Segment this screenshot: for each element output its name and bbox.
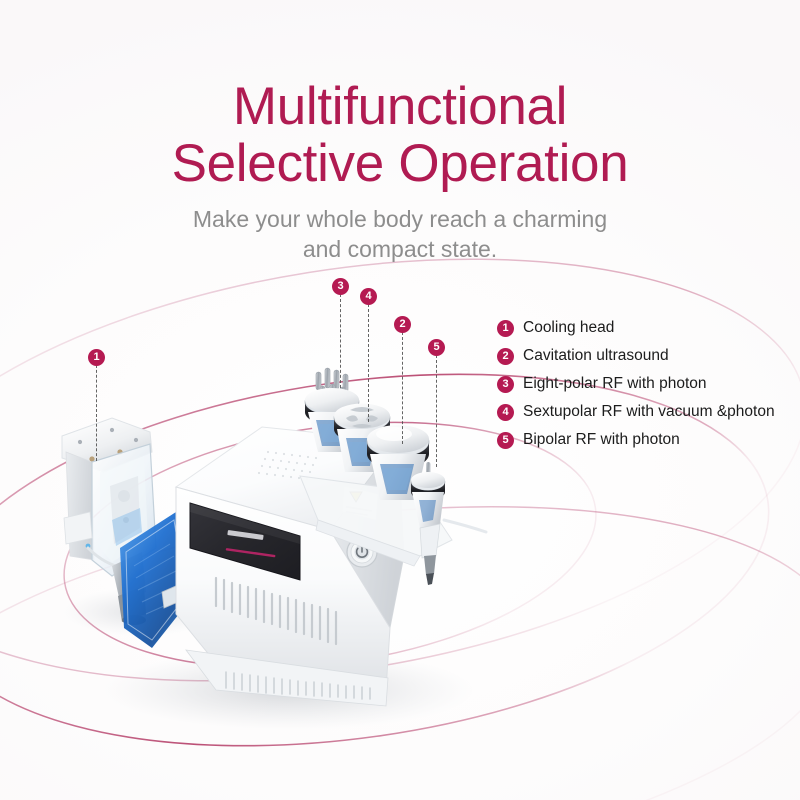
top-vent-grid <box>258 451 317 480</box>
page-title-line-2: Selective Operation <box>0 135 800 192</box>
callout-marker-1: 1 <box>88 349 105 366</box>
legend-row: 4Sextupolar RF with vacuum &photon <box>497 398 797 426</box>
legend-row: 5Bipolar RF with photon <box>497 426 797 454</box>
handpiece-sextupolar-rf-vacuum <box>334 404 390 473</box>
handpiece-cavitation-ultrasound <box>367 425 429 500</box>
legend-badge-1: 1 <box>497 320 514 337</box>
handpiece-cradle <box>300 476 452 556</box>
subtitle: Make your whole body reach a charming an… <box>0 204 800 264</box>
blue-side-panel <box>120 512 190 648</box>
legend-row: 3Eight-polar RF with photon <box>497 370 797 398</box>
console-top-face <box>176 427 398 530</box>
legend-label: Sextupolar RF with vacuum &photon <box>523 403 775 421</box>
subtitle-line-1: Make your whole body reach a charming <box>0 204 800 234</box>
callout-marker-3: 3 <box>332 278 349 295</box>
callout-marker-2: 2 <box>394 316 411 333</box>
headline-block: Multifunctional Selective Operation Make… <box>0 78 800 264</box>
callout-marker-5: 5 <box>428 339 445 356</box>
warning-label <box>342 486 378 520</box>
callout-leader-line-3 <box>340 294 341 388</box>
handpiece-eight-polar-rf <box>305 368 359 452</box>
legend-badge-3: 3 <box>497 376 514 393</box>
legend-row: 1Cooling head <box>497 314 797 342</box>
console-screen <box>190 503 300 580</box>
legend-label: Cooling head <box>523 319 614 337</box>
power-button <box>347 537 377 567</box>
front-vent-slats <box>216 578 336 644</box>
product-feature-graphic: Multifunctional Selective Operation Make… <box>0 0 800 800</box>
console-front-face <box>176 487 390 690</box>
cooling-head-handpiece <box>62 418 156 625</box>
legend-label: Cavitation ultrasound <box>523 347 669 365</box>
legend-label: Eight-polar RF with photon <box>523 375 707 393</box>
callout-leader-line-5 <box>436 355 437 467</box>
legend-badge-5: 5 <box>497 432 514 449</box>
callout-leader-line-2 <box>402 332 403 444</box>
callout-leader-line-4 <box>368 304 369 422</box>
legend-badge-4: 4 <box>497 404 514 421</box>
handpiece-bipolar-rf <box>411 462 486 585</box>
bottom-vent-slats <box>226 672 370 699</box>
legend-badge-2: 2 <box>497 348 514 365</box>
feature-legend: 1Cooling head2Cavitation ultrasound3Eigh… <box>497 314 797 454</box>
legend-row: 2Cavitation ultrasound <box>497 342 797 370</box>
console-right-face <box>330 441 404 628</box>
callout-leader-line-1 <box>96 365 97 461</box>
page-title-line-1: Multifunctional <box>0 78 800 135</box>
callout-marker-4: 4 <box>360 288 377 305</box>
subtitle-line-2: and compact state. <box>0 234 800 264</box>
legend-label: Bipolar RF with photon <box>523 431 680 449</box>
